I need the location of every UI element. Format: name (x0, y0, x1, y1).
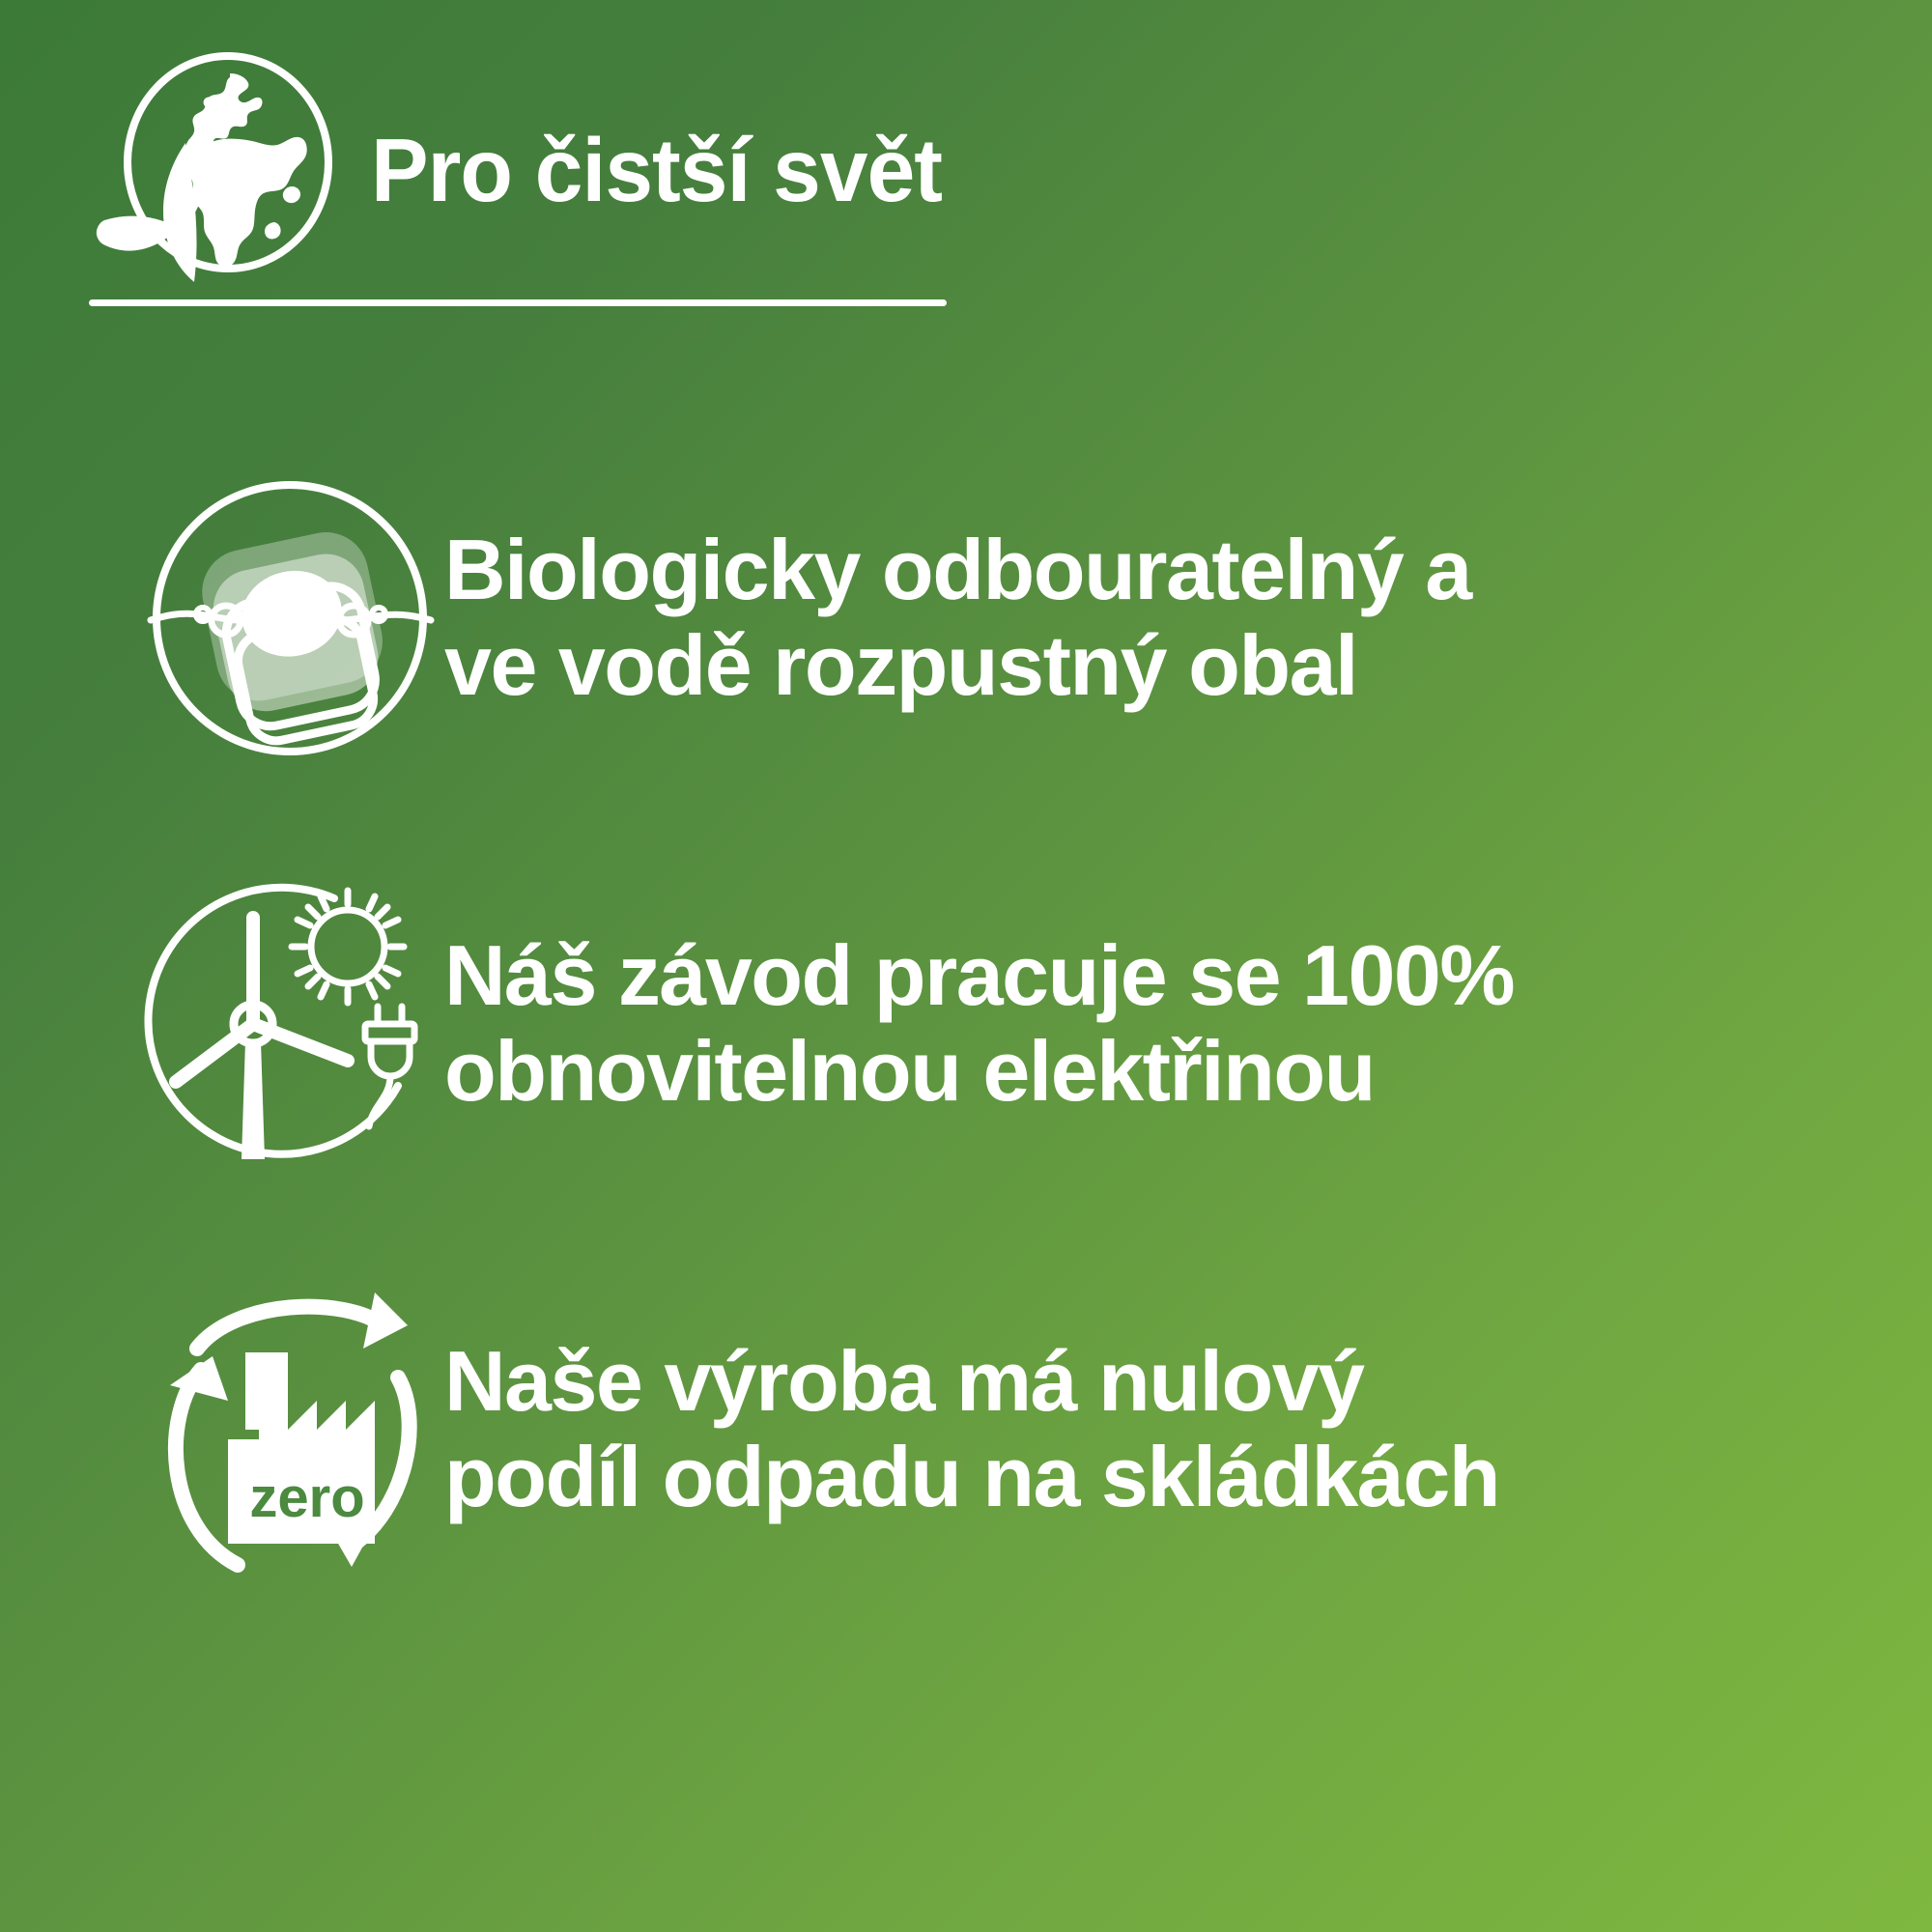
feature-line-1: Náš závod pracuje se 100% (444, 928, 1514, 1024)
feature-line-2: podíl odpadu na skládkách (444, 1430, 1499, 1525)
feature-text-zero-waste: Naše výroba má nulový podíl odpadu na sk… (444, 1334, 1499, 1524)
feature-row-renewable-energy: Náš závod pracuje se 100% obnovitelnou e… (0, 821, 1932, 1227)
page-title: Pro čistší svět (371, 126, 942, 215)
globe-leaf-icon (85, 50, 344, 282)
water-soluble-pod-icon (145, 473, 435, 763)
feature-row-biodegradable: Biologicky odbouratelný a ve vodě rozpus… (0, 415, 1932, 821)
feature-list: Biologicky odbouratelný a ve vodě rozpus… (0, 415, 1932, 1633)
feature-row-zero-waste: zero Naše výroba má nulový podíl odpadu … (0, 1227, 1932, 1633)
feature-line-1: Biologicky odbouratelný a (444, 523, 1471, 618)
feature-text-renewable-energy: Náš závod pracuje se 100% obnovitelnou e… (444, 928, 1514, 1119)
zero-badge-label: zero (249, 1466, 364, 1529)
feature-line-2: ve vodě rozpustný obal (444, 618, 1471, 714)
breadcrumb-divider (89, 299, 947, 306)
feature-line-1: Naše výroba má nulový (444, 1334, 1499, 1430)
zero-waste-factory-icon: zero (145, 1285, 435, 1575)
eco-claims-poster: Pro čistší svět (0, 0, 1932, 1932)
header: Pro čistší svět (85, 50, 1824, 282)
feature-text-biodegradable: Biologicky odbouratelný a ve vodě rozpus… (444, 523, 1471, 713)
wind-turbine-sun-plug-icon (145, 879, 435, 1169)
feature-line-2: obnovitelnou elektřinou (444, 1024, 1514, 1120)
